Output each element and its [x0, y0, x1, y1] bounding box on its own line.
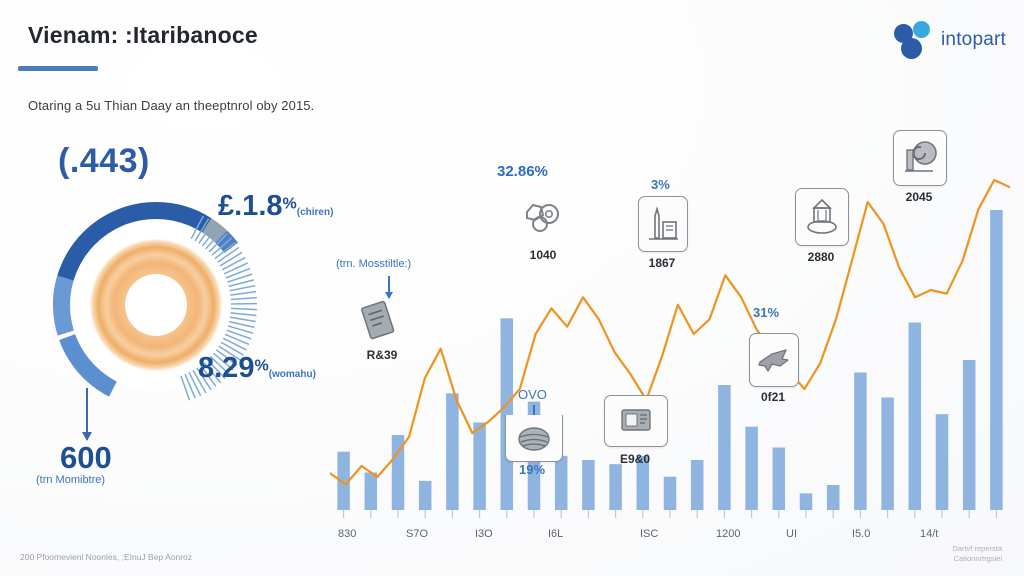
turbine-icon-card-label: 2045 — [889, 190, 949, 204]
plane-icon-card — [749, 333, 799, 387]
infographic-page: Vienam: :Itaribanoce Otaring a 5u Thian … — [0, 0, 1024, 576]
annotation-note-moisture: (trn. Mosstiltle:) — [336, 258, 411, 270]
footer-right-text: Dartvf repersta Cationnrtrgsiel — [952, 544, 1002, 564]
bar — [854, 373, 867, 511]
bar — [446, 393, 459, 510]
x-tick-label-2: I3O — [475, 528, 493, 540]
monitor-icon-card — [604, 395, 668, 447]
lantern-icon — [803, 196, 841, 238]
plane-icon — [756, 342, 792, 378]
x-tick-label-8: 14/t — [920, 528, 938, 540]
document-icon-card-label: R&39 — [352, 348, 412, 362]
lantern-icon-card-label: 2880 — [791, 250, 851, 264]
x-tick-label-1: S7O — [406, 528, 428, 540]
tower-icon — [646, 204, 680, 244]
donut-callout-bottom-sub: (womahu) — [269, 369, 316, 380]
title-accent-bar — [18, 66, 98, 71]
annotation-pct-3: 3% — [651, 177, 670, 192]
donut-callout-top-sub: (chiren) — [297, 207, 334, 218]
bar — [664, 477, 677, 510]
donut-callout-top-symbol: % — [283, 196, 297, 213]
x-tick-label-6: UI — [786, 528, 797, 540]
annotation-pct-32-86: 32.86% — [497, 163, 548, 180]
bar — [963, 360, 976, 510]
plane-icon-card-label: 0f21 — [743, 390, 803, 404]
tower-icon-card — [638, 196, 688, 252]
page-title: Vienam: :Itaribanoce — [28, 22, 258, 49]
annotation-pct-19: 19% — [519, 462, 545, 477]
bar-series — [337, 210, 1002, 510]
bar — [990, 210, 1003, 510]
turbine-icon-card — [893, 130, 947, 186]
x-tick-label-7: I5.0 — [852, 528, 870, 540]
gear-cloud-icon-card-label: 1040 — [513, 248, 573, 262]
bar — [582, 460, 595, 510]
annotation-pct-31: 31% — [753, 305, 779, 320]
donut-arrow-kpi-sub: (trn Momibtre) — [36, 474, 105, 486]
turbine-icon — [901, 138, 939, 178]
monitor-icon — [616, 405, 656, 437]
donut-kpi-arrow-icon — [86, 388, 88, 440]
bar — [365, 473, 378, 511]
logo-circles-icon — [894, 20, 934, 60]
x-axis-ticks — [344, 510, 997, 518]
bar — [691, 460, 704, 510]
x-tick-label-0: 830 — [338, 528, 356, 540]
x-tick-label-5: 1200 — [716, 528, 740, 540]
bar — [773, 448, 786, 511]
bar — [909, 323, 922, 511]
shell-icon — [513, 423, 555, 453]
page-subtitle: Otaring a 5u Thian Daay an theeptnrol ob… — [28, 98, 314, 113]
tower-icon-card-label: 1867 — [632, 256, 692, 270]
bar — [419, 481, 432, 510]
footer-left-text: 200 Pfoomevienl Noonles, ;EInuJ Bep Aonr… — [20, 552, 192, 562]
donut-callout-top-value: £.1.8 — [218, 190, 283, 222]
donut-callout-top: £.1.8%(chiren) — [218, 190, 333, 223]
donut-callout-bottom-value: 8.29 — [198, 352, 254, 384]
donut-callout-bottom: 8.29%(womahu) — [198, 352, 316, 385]
bar — [936, 414, 949, 510]
bar — [827, 485, 840, 510]
bar — [555, 456, 568, 510]
bar — [800, 493, 813, 510]
bar — [881, 398, 894, 511]
bar — [473, 423, 486, 511]
footer-right-line2: Cationnrtrgsiel — [952, 554, 1002, 564]
donut-arrow-kpi-value: 600 — [60, 440, 112, 476]
shell-icon-card — [505, 415, 563, 462]
brand-logo: intopart — [894, 20, 1006, 60]
donut-callout-bottom-symbol: % — [254, 358, 268, 375]
bar — [718, 385, 731, 510]
footer-right-line1: Dartvf repersta — [952, 544, 1002, 554]
annotation-note-ovo: OVO — [518, 387, 547, 402]
bar — [745, 427, 758, 510]
donut-kpi-label: (.443) — [58, 142, 150, 181]
gear-cloud-icon — [521, 198, 565, 238]
x-tick-label-3: I6L — [548, 528, 563, 540]
logo-text: intopart — [941, 29, 1006, 51]
x-tick-label-4: ISC — [640, 528, 658, 540]
monitor-icon-card-label: E9&0 — [600, 452, 670, 466]
lantern-icon-card — [795, 188, 849, 246]
bar — [609, 464, 622, 510]
